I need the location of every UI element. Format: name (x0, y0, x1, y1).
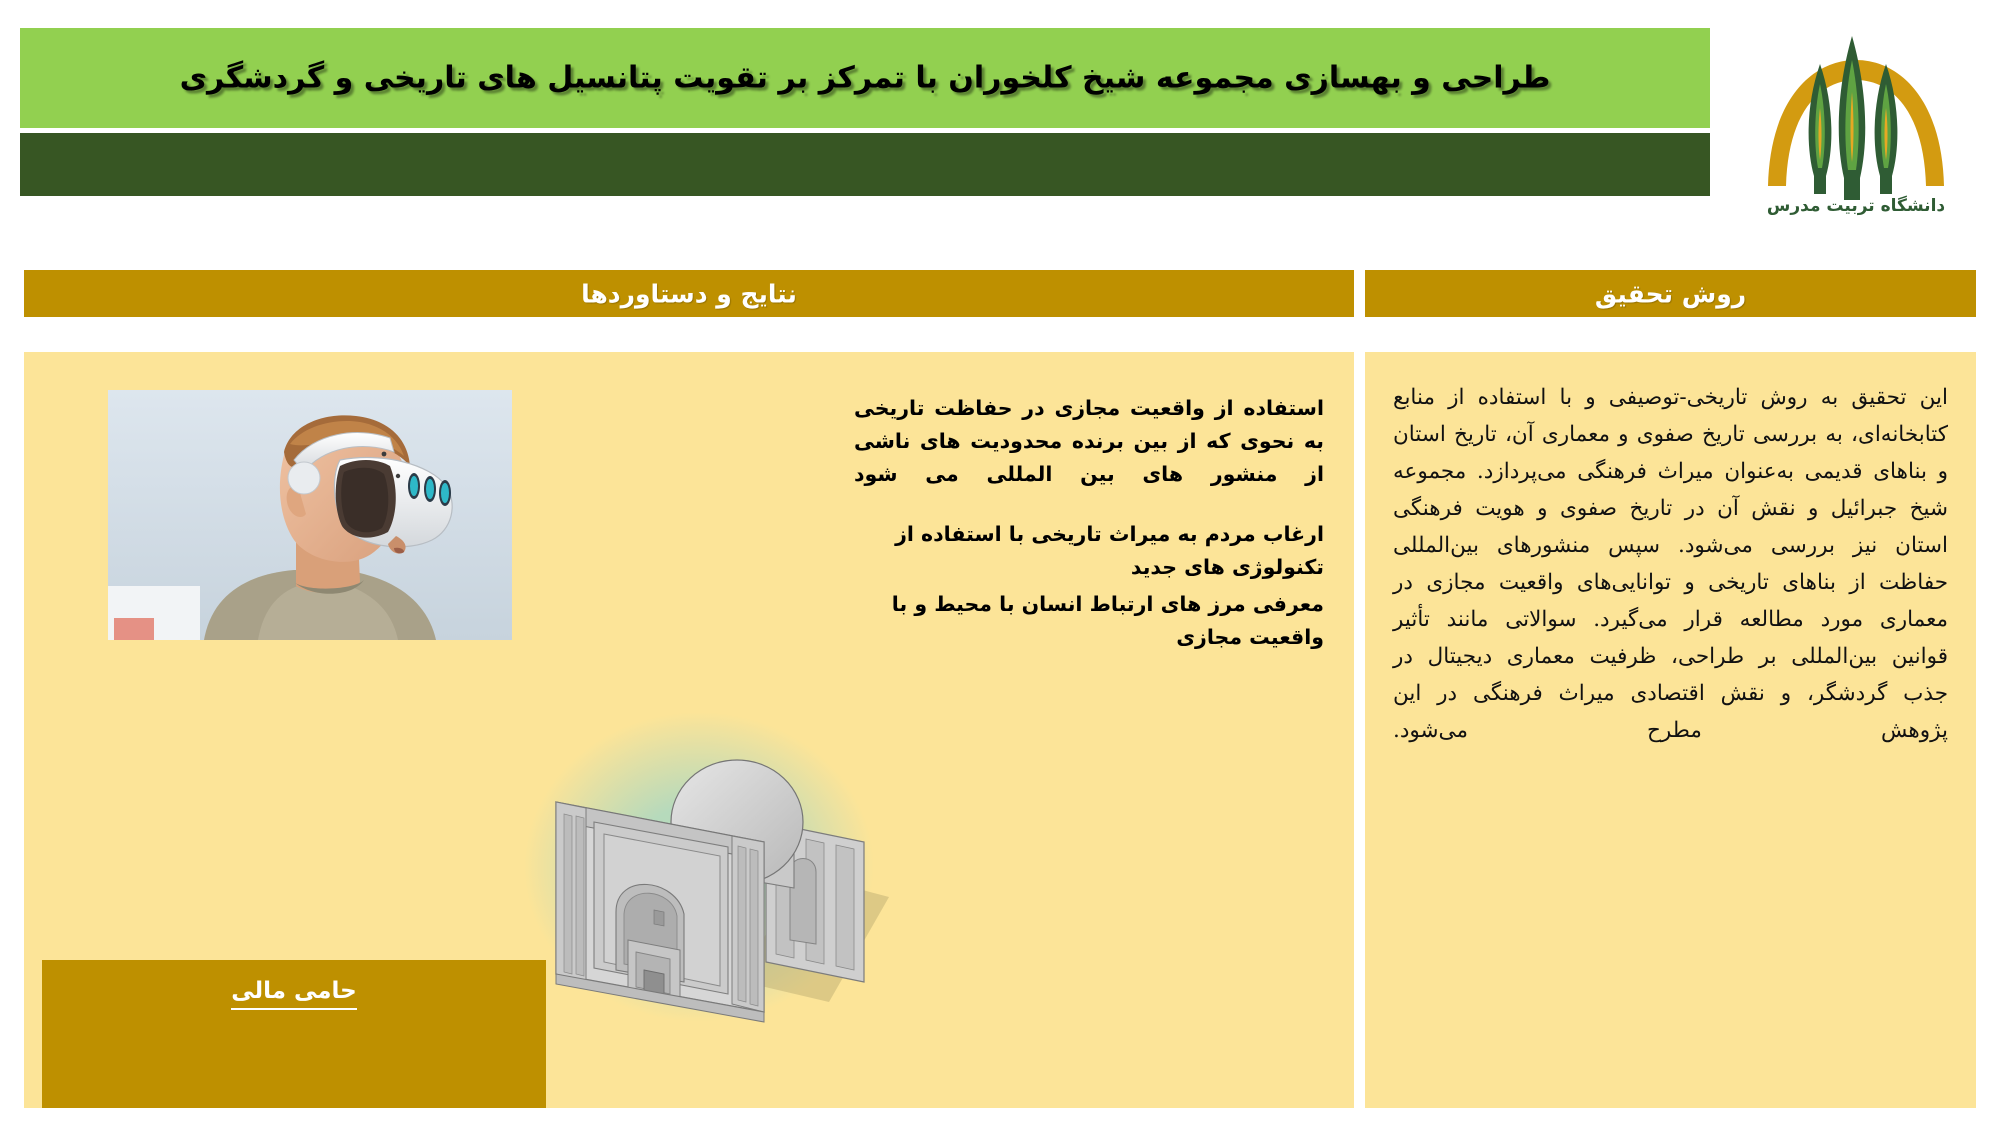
historic-building-3d-render (494, 682, 914, 1042)
poster-title-banner: طراحی و بهسازی مجموعه شیخ کلخوران با تمر… (20, 28, 1710, 128)
sponsor-label: حامی مالی (42, 978, 546, 1004)
results-header-label: نتایج و دستاوردها (24, 279, 1354, 308)
results-paragraph-1: استفاده از واقعیت مجازی در حفاظت تاریخی … (854, 392, 1324, 492)
results-paragraph-3: معرفی مرز های ارتباط انسان با محیط و با … (854, 588, 1324, 654)
results-text-block: استفاده از واقعیت مجازی در حفاظت تاریخی … (854, 392, 1324, 654)
university-logo-caption: دانشگاه تربیت مدرس (1740, 196, 1972, 216)
vr-headset-photo (108, 390, 512, 640)
research-method-header: روش تحقیق (1365, 270, 1976, 317)
results-paragraph-2: ارغاب مردم به میراث تاریخی با استفاده از… (854, 518, 1324, 584)
poster-title: طراحی و بهسازی مجموعه شیخ کلخوران با تمر… (42, 59, 1688, 97)
research-method-header-label: روش تحقیق (1365, 279, 1976, 308)
sponsor-label-text: حامی مالی (231, 978, 357, 1010)
poster-header: طراحی و بهسازی مجموعه شیخ کلخوران با تمر… (0, 0, 2000, 250)
research-method-body-text: این تحقیق به روش تاریخی-توصیفی و با استف… (1393, 380, 1948, 750)
research-method-panel: این تحقیق به روش تاریخی-توصیفی و با استف… (1365, 352, 1976, 1108)
university-logo: دانشگاه تربیت مدرس (1740, 8, 1972, 218)
results-panel: استفاده از واقعیت مجازی در حفاظت تاریخی … (24, 352, 1354, 1108)
results-header: نتایج و دستاوردها (24, 270, 1354, 317)
poster-subtitle-banner (20, 133, 1710, 196)
sponsor-box: حامی مالی (42, 960, 546, 1108)
